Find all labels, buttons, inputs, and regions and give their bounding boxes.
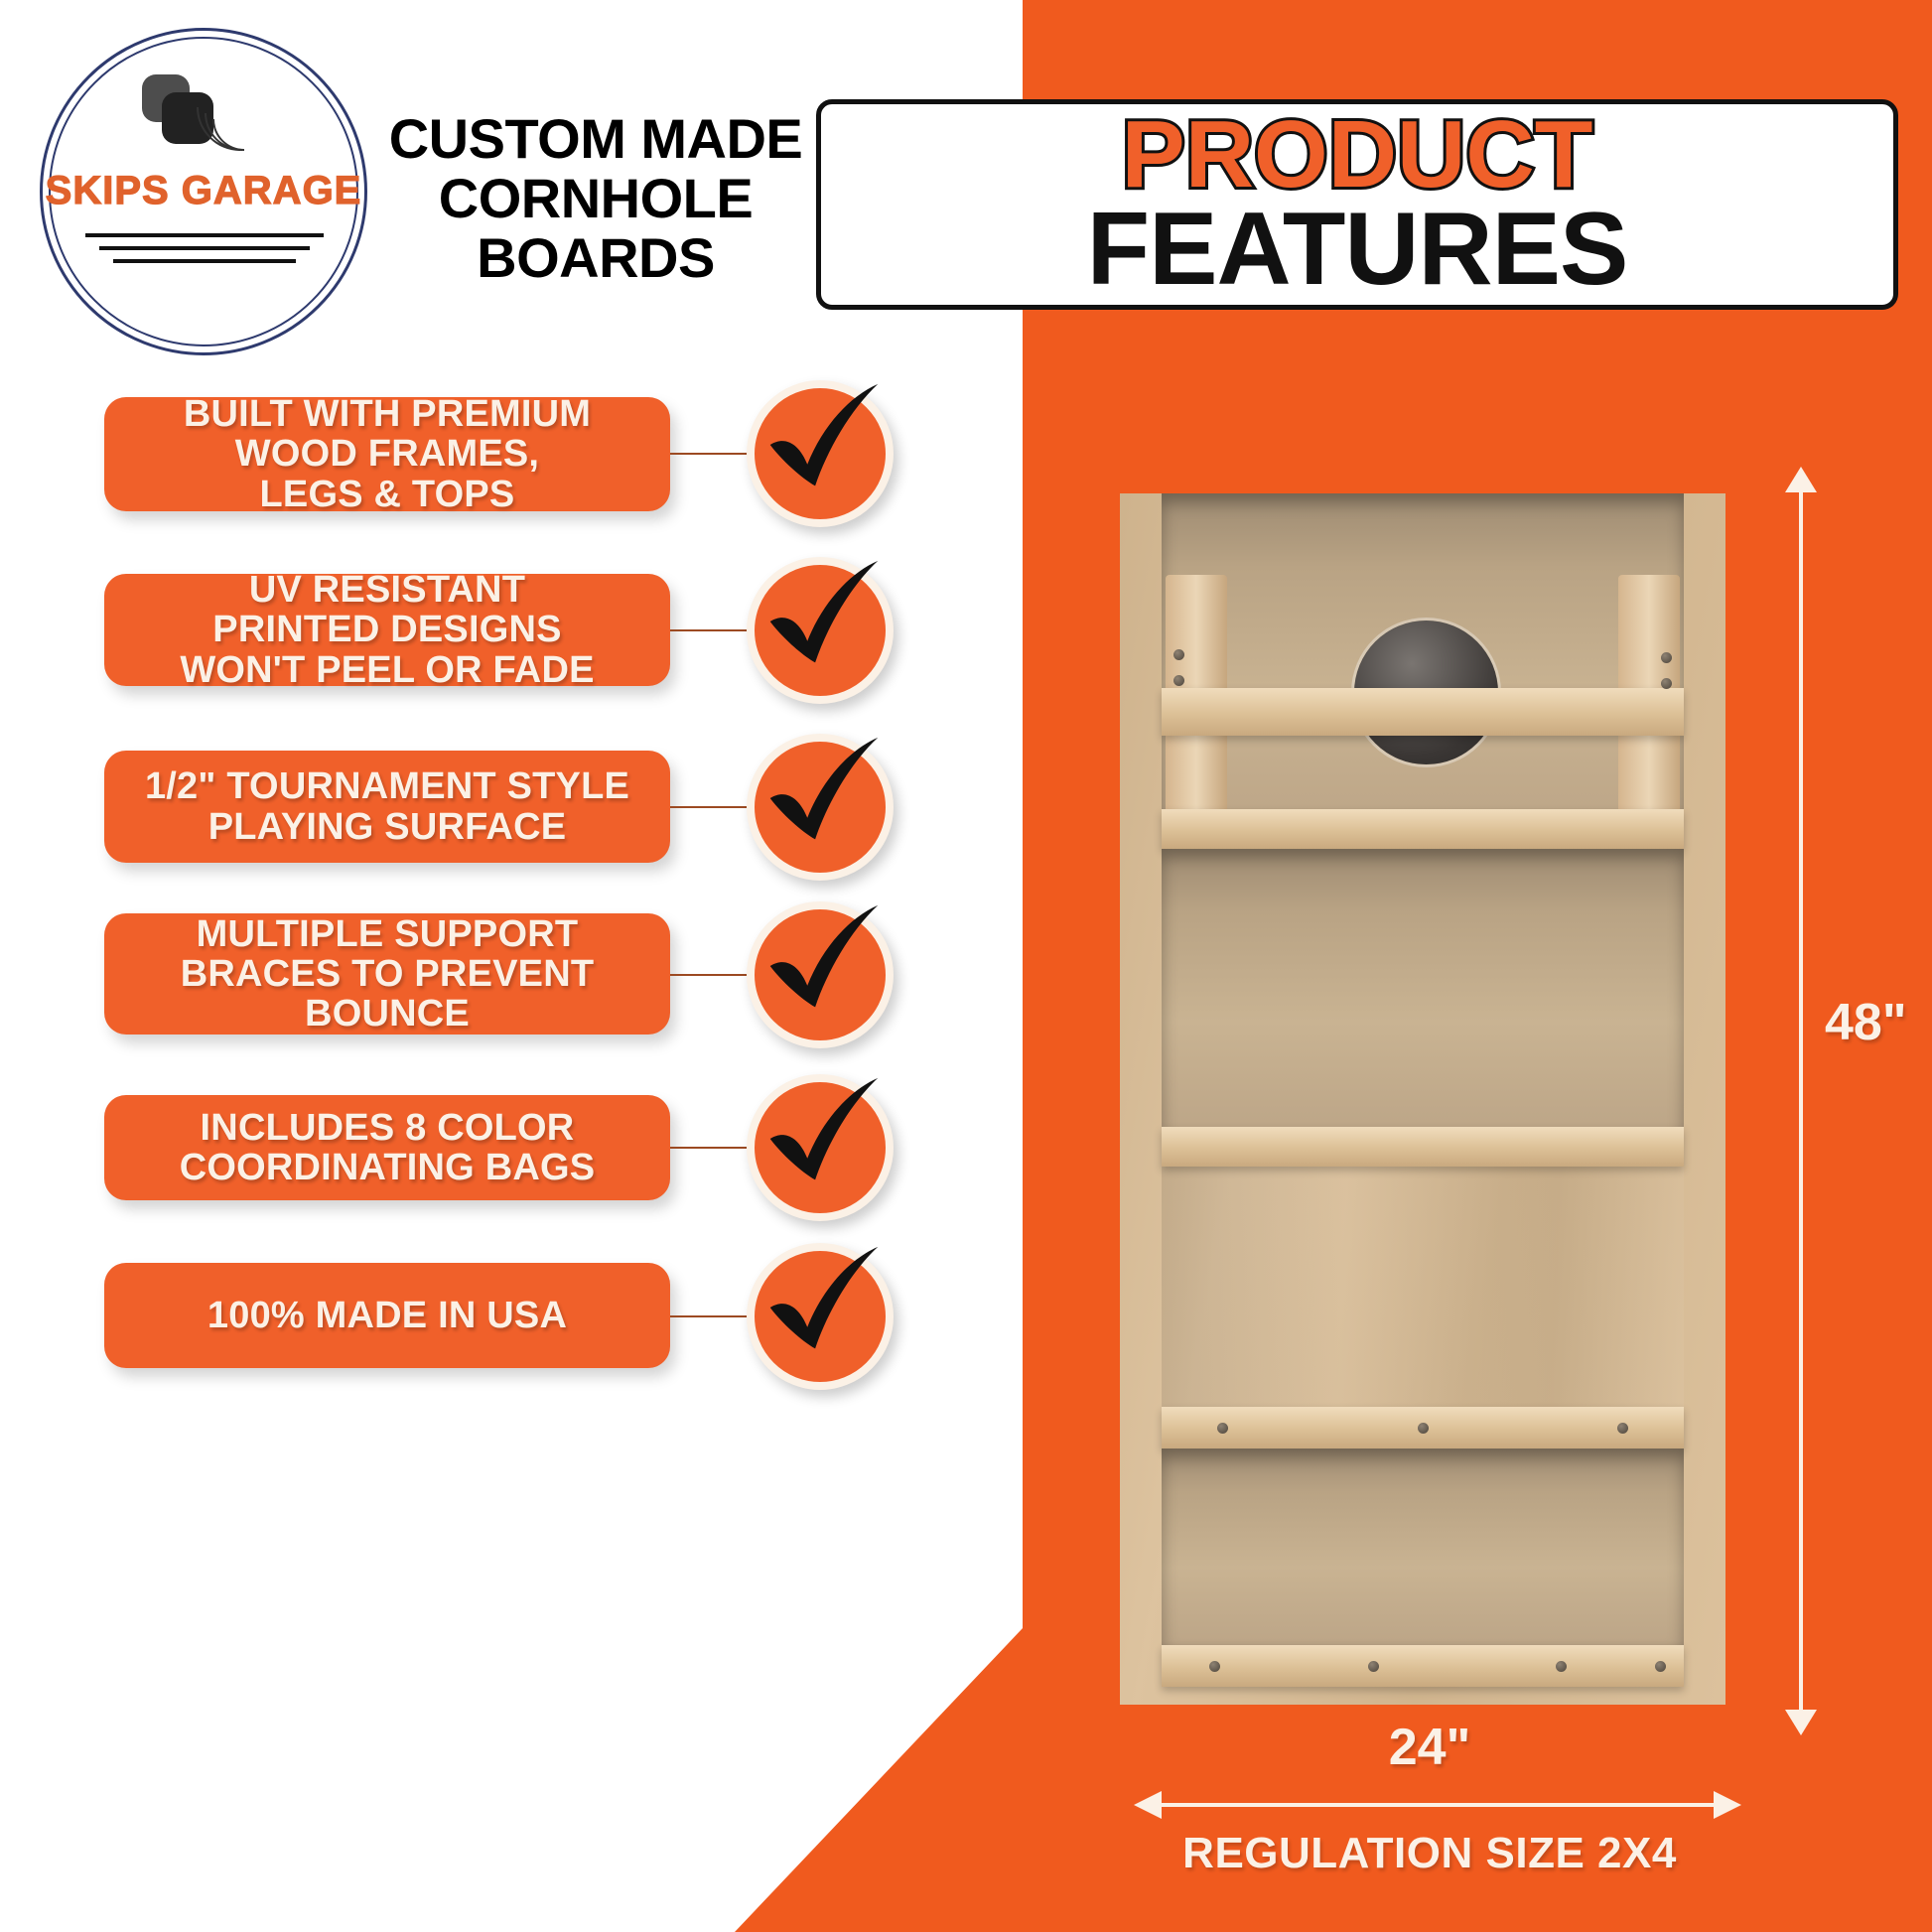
board-screw (1418, 1423, 1429, 1434)
feature-5-line-1: INCLUDES 8 COLOR (180, 1108, 596, 1148)
feature-2-line-3: WON'T PEEL OR FADE (180, 650, 594, 690)
board-screw (1368, 1661, 1379, 1672)
feature-pill-1[interactable]: BUILT WITH PREMIUM WOOD FRAMES, LEGS & T… (104, 397, 670, 511)
connector-line-1 (670, 453, 755, 455)
feature-1-line-3: LEGS & TOPS (184, 475, 591, 514)
board-screw (1173, 649, 1184, 660)
feature-1-line-1: BUILT WITH PREMIUM (184, 394, 591, 434)
board-cavity-bottom (1162, 1449, 1684, 1647)
logo-underline-3 (113, 259, 296, 263)
board-brace-bottom (1162, 1645, 1684, 1687)
checkmark-icon-3 (747, 734, 894, 881)
logo-underline-2 (99, 246, 310, 250)
feature-pill-2[interactable]: UV RESISTANT PRINTED DESIGNS WON'T PEEL … (104, 574, 670, 686)
feature-pill-4[interactable]: MULTIPLE SUPPORT BRACES TO PREVENT BOUNC… (104, 913, 670, 1035)
board-brace-mid-bottom (1162, 1127, 1684, 1167)
feature-2-line-2: PRINTED DESIGNS (180, 610, 594, 649)
feature-3-line-2: PLAYING SURFACE (145, 807, 629, 847)
board-screw (1617, 1423, 1628, 1434)
board-panel-middle (1162, 1137, 1684, 1425)
board-screw (1556, 1661, 1567, 1672)
board-screw (1655, 1661, 1666, 1672)
height-arrow-top (1785, 467, 1817, 492)
feature-6-line-1: 100% MADE IN USA (207, 1296, 567, 1335)
feature-pill-3[interactable]: 1/2" TOURNAMENT STYLE PLAYING SURFACE (104, 751, 670, 863)
product-features-banner: PRODUCT FEATURES (816, 99, 1898, 310)
board-screw (1173, 675, 1184, 686)
width-arrow-right (1714, 1791, 1741, 1819)
banner-word-product: PRODUCT (1122, 111, 1593, 199)
width-arrow-left (1134, 1791, 1162, 1819)
connector-line-6 (670, 1315, 755, 1317)
banner-word-features: FEATURES (1087, 203, 1628, 298)
connector-line-5 (670, 1147, 755, 1149)
width-dimension-line (1160, 1803, 1716, 1807)
logo-underline-1 (85, 233, 324, 237)
feature-4-line-1: MULTIPLE SUPPORT (181, 914, 595, 954)
board-screw (1661, 678, 1672, 689)
logo-wordmark: SKIPS GARAGE (30, 169, 377, 213)
feature-pill-5[interactable]: INCLUDES 8 COLOR COORDINATING BAGS (104, 1095, 670, 1200)
checkmark-icon-1 (747, 380, 894, 527)
checkmark-icon-5 (747, 1074, 894, 1221)
feature-4-line-3: BOUNCE (181, 994, 595, 1034)
connector-line-4 (670, 974, 755, 976)
checkmark-icon-6 (747, 1243, 894, 1390)
feature-5-line-2: COORDINATING BAGS (180, 1148, 596, 1187)
board-brace-upper (1162, 688, 1684, 736)
height-dimension-line (1799, 488, 1803, 1710)
checkmark-icon-4 (747, 901, 894, 1048)
board-screw (1209, 1661, 1220, 1672)
feature-pill-6[interactable]: 100% MADE IN USA (104, 1263, 670, 1368)
board-screw (1661, 652, 1672, 663)
width-dimension-label: 24" (1052, 1718, 1807, 1777)
connector-line-2 (670, 629, 755, 631)
board-brace-mid-top (1162, 809, 1684, 849)
regulation-size-caption: REGULATION SIZE 2X4 (1052, 1829, 1807, 1878)
feature-3-line-1: 1/2" TOURNAMENT STYLE (145, 766, 629, 806)
brand-logo: SKIPS GARAGE (30, 20, 377, 372)
board-screw (1217, 1423, 1228, 1434)
cornhole-board-photo (1120, 493, 1725, 1705)
feature-2-line-1: UV RESISTANT (180, 570, 594, 610)
feature-1-line-2: WOOD FRAMES, (184, 434, 591, 474)
board-cavity-middle (1162, 849, 1684, 1137)
feature-4-line-2: BRACES TO PREVENT (181, 954, 595, 994)
checkmark-icon-2 (747, 557, 894, 704)
connector-line-3 (670, 806, 755, 808)
height-dimension-label: 48" (1825, 993, 1907, 1052)
